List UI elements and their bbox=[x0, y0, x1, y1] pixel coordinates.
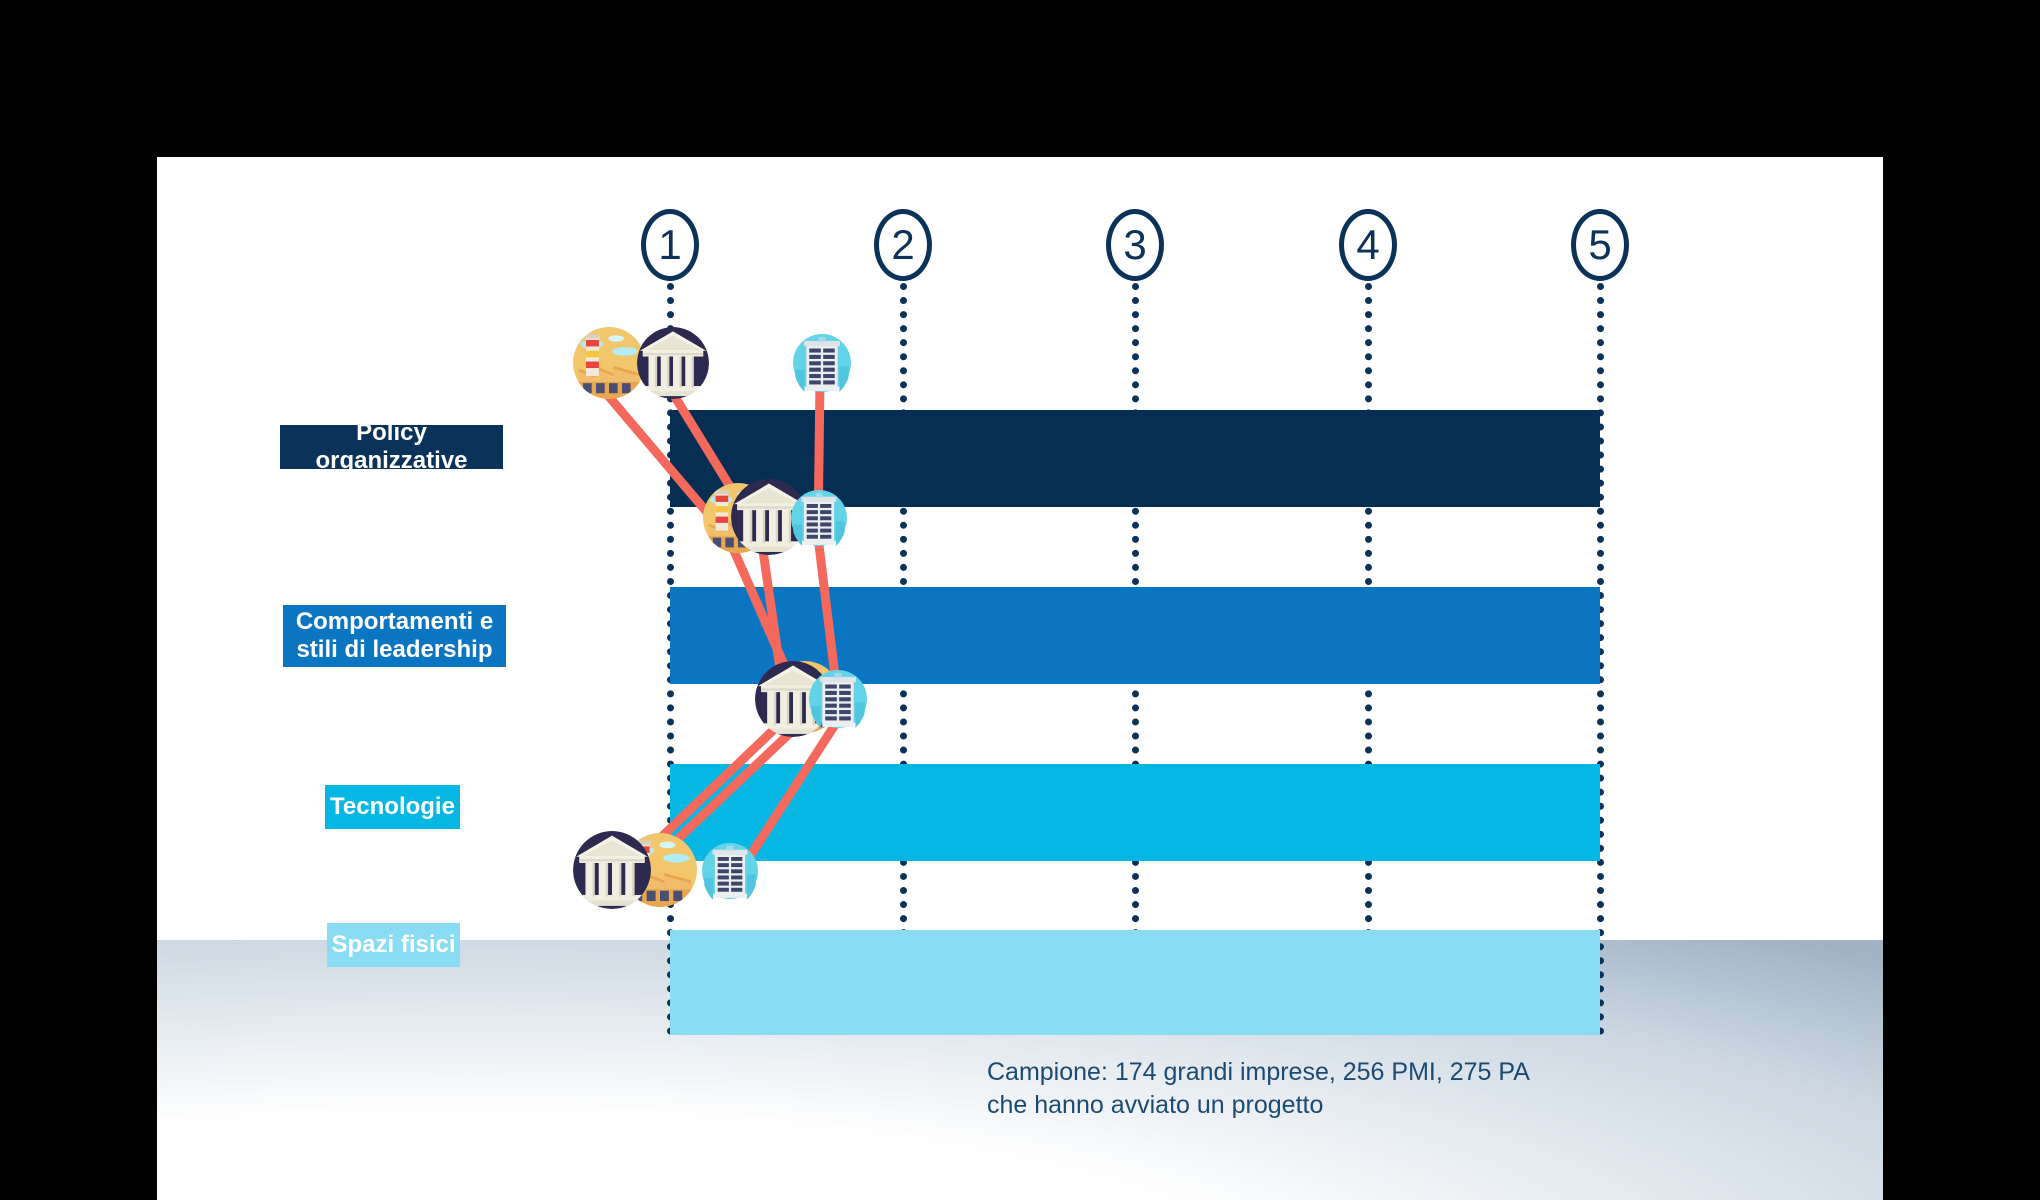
government-building-icon[interactable] bbox=[637, 327, 709, 399]
axis-marker-5-label: 5 bbox=[1588, 224, 1611, 266]
axis-marker-1[interactable]: 1 bbox=[641, 209, 699, 281]
axis-marker-4-label: 4 bbox=[1356, 224, 1379, 266]
factory-icon[interactable] bbox=[573, 327, 645, 399]
axis-marker-1-label: 1 bbox=[658, 224, 681, 266]
slide-stage: 1 2 3 4 5 Policy organizzative Comportam… bbox=[0, 0, 2040, 1200]
axis-marker-4[interactable]: 4 bbox=[1339, 209, 1397, 281]
row-band-tecnologie bbox=[670, 764, 1600, 861]
row-band-spazi-fisici bbox=[670, 930, 1600, 1035]
axis-marker-3[interactable]: 3 bbox=[1106, 209, 1164, 281]
row-label-tecnologie-text: Tecnologie bbox=[330, 793, 455, 821]
office-tower-icon[interactable] bbox=[809, 663, 867, 735]
chart-footnote: Campione: 174 grandi imprese, 256 PMI, 2… bbox=[987, 1056, 1607, 1122]
row-label-comportamenti-text: Comportamenti e stili di leadership bbox=[296, 608, 493, 663]
axis-marker-5[interactable]: 5 bbox=[1571, 209, 1629, 281]
office-tower-icon[interactable] bbox=[793, 327, 851, 399]
office-tower-icon[interactable] bbox=[702, 835, 758, 907]
row-label-tecnologie: Tecnologie bbox=[325, 785, 460, 829]
government-building-icon[interactable] bbox=[573, 831, 651, 909]
row-label-spazi-fisici: Spazi fisici bbox=[327, 923, 460, 967]
office-tower-icon[interactable] bbox=[791, 483, 847, 553]
row-label-policy-organizzative: Policy organizzative bbox=[280, 425, 503, 469]
row-label-policy-organizzative-text: Policy organizzative bbox=[280, 419, 503, 474]
axis-marker-2-label: 2 bbox=[891, 224, 914, 266]
axis-marker-2[interactable]: 2 bbox=[874, 209, 932, 281]
row-label-spazi-fisici-text: Spazi fisici bbox=[331, 931, 455, 959]
slide-card: 1 2 3 4 5 Policy organizzative Comportam… bbox=[157, 157, 1883, 1200]
axis-marker-3-label: 3 bbox=[1123, 224, 1146, 266]
row-label-comportamenti: Comportamenti e stili di leadership bbox=[283, 605, 506, 667]
